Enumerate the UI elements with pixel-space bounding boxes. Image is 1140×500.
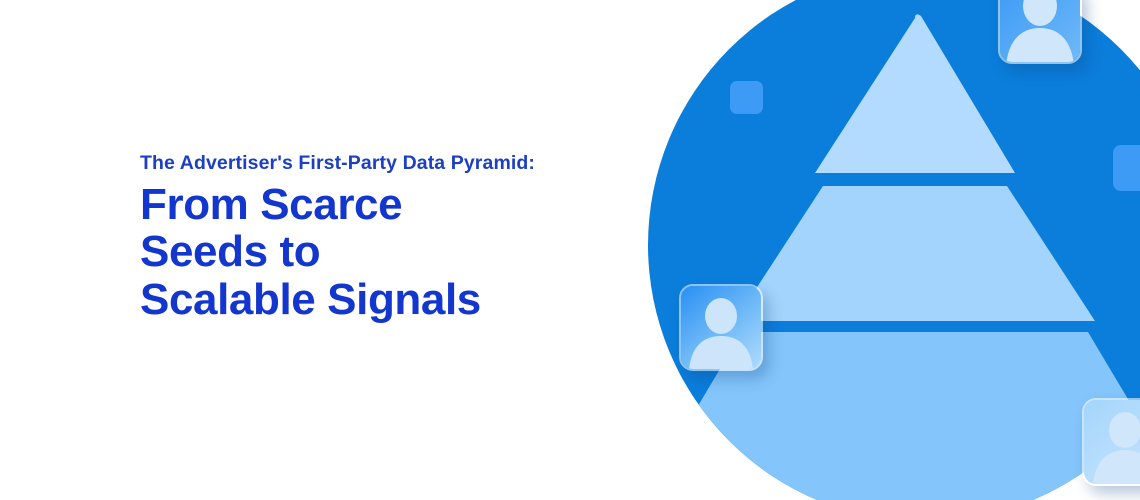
avatar-card-top-right (998, 0, 1082, 64)
avatar-card-bottom-right (1082, 398, 1140, 486)
headline-line-1: From Scarce (140, 181, 610, 228)
pyramid-illustration (640, 0, 1140, 500)
person-avatar-icon (1084, 400, 1140, 484)
eyebrow-kicker: The Advertiser's First-Party Data Pyrami… (140, 152, 610, 175)
avatar-card-left (679, 284, 763, 371)
person-avatar-icon (1000, 0, 1080, 62)
decor-square-upper-left (730, 81, 763, 114)
person-avatar-icon (681, 286, 761, 369)
decor-square-right (1113, 145, 1140, 191)
headline-text-block: The Advertiser's First-Party Data Pyrami… (140, 152, 610, 323)
hero-banner: The Advertiser's First-Party Data Pyrami… (0, 0, 1140, 500)
headline-line-2: Seeds to (140, 228, 610, 275)
headline-line-3: Scalable Signals (140, 276, 610, 323)
page-title: From Scarce Seeds to Scalable Signals (140, 181, 610, 322)
